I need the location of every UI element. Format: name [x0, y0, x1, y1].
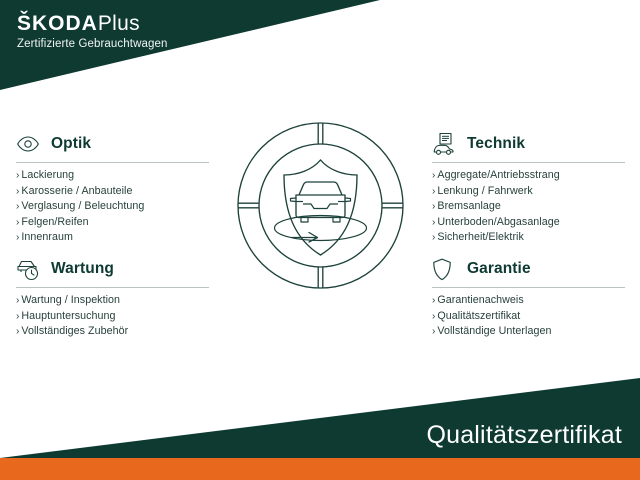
list-item-label: Sicherheit/Elektrik — [437, 231, 523, 243]
section-technik-list: ›Aggregate/Antriebsstrang ›Lenkung / Fah… — [432, 168, 628, 246]
chevron-right-icon: › — [432, 295, 435, 306]
certificate-page: ŠKODAPlus Zertifizierte Gebrauchtwagen O… — [0, 0, 640, 480]
list-item-label: Aggregate/Antriebsstrang — [437, 169, 559, 181]
list-item: ›Unterboden/Abgasanlage — [432, 215, 628, 231]
chevron-right-icon: › — [432, 326, 435, 337]
section-technik-header: Technik — [432, 131, 628, 157]
section-optik-title: Optik — [51, 135, 91, 153]
chevron-right-icon: › — [432, 201, 435, 212]
list-item-label: Verglasung / Beleuchtung — [21, 200, 144, 212]
chevron-right-icon: › — [16, 232, 19, 243]
section-technik: Technik ›Aggregate/Antriebsstrang ›Lenku… — [432, 131, 628, 246]
section-divider — [432, 162, 625, 163]
brand-primary: ŠKODAPlus — [17, 13, 167, 34]
list-item: ›Vollständiges Zubehör — [16, 324, 212, 340]
section-technik-title: Technik — [467, 135, 525, 153]
car-clock-icon — [16, 257, 42, 281]
chevron-right-icon: › — [432, 311, 435, 322]
section-divider — [16, 162, 209, 163]
section-optik: Optik ›Lackierung ›Karosserie / Anbautei… — [16, 131, 212, 246]
shield-icon — [432, 257, 458, 281]
section-wartung: Wartung ›Wartung / Inspektion ›Hauptunte… — [16, 256, 212, 340]
list-item-label: Hauptuntersuchung — [21, 310, 115, 322]
section-optik-list: ›Lackierung ›Karosserie / Anbauteile ›Ve… — [16, 168, 212, 246]
list-item-label: Vollständiges Zubehör — [21, 325, 128, 337]
section-garantie-title: Garantie — [467, 260, 531, 278]
chevron-right-icon: › — [16, 186, 19, 197]
list-item-label: Felgen/Reifen — [21, 216, 88, 228]
list-item: ›Verglasung / Beleuchtung — [16, 199, 212, 215]
section-garantie: Garantie ›Garantienachweis ›Qualitätszer… — [432, 256, 628, 340]
section-garantie-list: ›Garantienachweis ›Qualitätszertifikat ›… — [432, 293, 628, 340]
brand-mark: ŠKODA — [17, 12, 98, 35]
list-item-label: Karosserie / Anbauteile — [21, 185, 132, 197]
section-wartung-list: ›Wartung / Inspektion ›Hauptuntersuchung… — [16, 293, 212, 340]
list-item-label: Lenkung / Fahrwerk — [437, 185, 532, 197]
list-item: ›Lackierung — [16, 168, 212, 184]
brand-logo: ŠKODAPlus Zertifizierte Gebrauchtwagen — [17, 13, 167, 51]
section-wartung-title: Wartung — [51, 260, 114, 278]
list-item-label: Unterboden/Abgasanlage — [437, 216, 559, 228]
list-item: ›Garantienachweis — [432, 293, 628, 309]
list-item: ›Innenraum — [16, 230, 212, 246]
list-item-label: Qualitätszertifikat — [437, 310, 520, 322]
list-item-label: Wartung / Inspektion — [21, 294, 120, 306]
section-divider — [16, 287, 209, 288]
list-item-label: Innenraum — [21, 231, 73, 243]
list-item-label: Garantienachweis — [437, 294, 523, 306]
footer-title: Qualitätszertifikat — [426, 421, 622, 450]
certified-vehicle-emblem — [233, 118, 408, 293]
list-item: ›Bremsanlage — [432, 199, 628, 215]
list-item: ›Karosserie / Anbauteile — [16, 184, 212, 200]
eye-icon — [16, 132, 42, 156]
list-item: ›Felgen/Reifen — [16, 215, 212, 231]
section-divider — [432, 287, 625, 288]
list-item: ›Aggregate/Antriebsstrang — [432, 168, 628, 184]
list-item-label: Vollständige Unterlagen — [437, 325, 551, 337]
list-item: ›Vollständige Unterlagen — [432, 324, 628, 340]
chevron-right-icon: › — [16, 217, 19, 228]
chevron-right-icon: › — [432, 232, 435, 243]
brand-plus: Plus — [98, 12, 140, 35]
chevron-right-icon: › — [16, 295, 19, 306]
car-document-icon — [432, 132, 458, 156]
chevron-right-icon: › — [432, 217, 435, 228]
section-optik-header: Optik — [16, 131, 212, 157]
section-wartung-header: Wartung — [16, 256, 212, 282]
brand-tagline: Zertifizierte Gebrauchtwagen — [17, 39, 167, 51]
chevron-right-icon: › — [432, 170, 435, 181]
chevron-right-icon: › — [16, 326, 19, 337]
orange-accent-strip — [0, 458, 640, 480]
list-item: ›Sicherheit/Elektrik — [432, 230, 628, 246]
list-item: ›Lenkung / Fahrwerk — [432, 184, 628, 200]
chevron-right-icon: › — [432, 186, 435, 197]
list-item: ›Qualitätszertifikat — [432, 309, 628, 325]
list-item-label: Bremsanlage — [437, 200, 501, 212]
list-item-label: Lackierung — [21, 169, 74, 181]
list-item: ›Hauptuntersuchung — [16, 309, 212, 325]
chevron-right-icon: › — [16, 201, 19, 212]
chevron-right-icon: › — [16, 170, 19, 181]
section-garantie-header: Garantie — [432, 256, 628, 282]
chevron-right-icon: › — [16, 311, 19, 322]
list-item: ›Wartung / Inspektion — [16, 293, 212, 309]
